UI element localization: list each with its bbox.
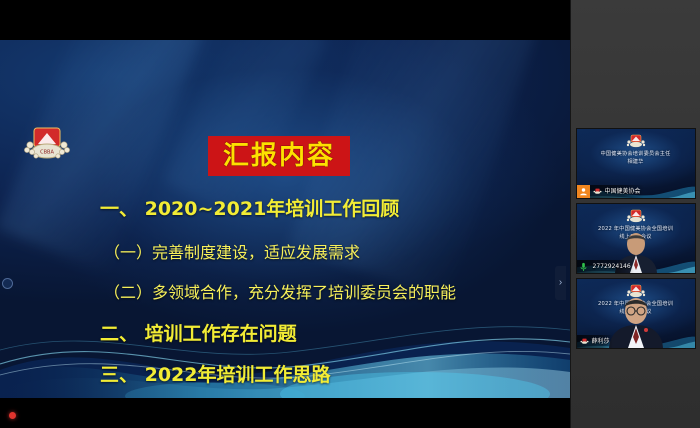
participant-video-person: [608, 292, 664, 348]
presentation-slide[interactable]: CBBA 汇报内容 一、 2020~2021年培训工作回顾 （一）完善制度建设，…: [0, 40, 570, 398]
participant-tile[interactable]: 2022 年中国健美协会全国培训 线上工作会议: [576, 278, 696, 349]
svg-text:CBBA: CBBA: [40, 150, 54, 156]
tile-caption-line1: 中国健美协会培训委员会主任: [580, 151, 692, 159]
participant-filmstrip[interactable]: 中国健美协会培训委员会主任 相建华 中国健美协会: [570, 0, 700, 428]
tile-participant-name: 薛利莎: [592, 339, 610, 345]
tile-caption: 中国健美协会培训委员会主任 相建华: [577, 151, 695, 166]
tile-name-bar: 2772924146: [577, 260, 634, 273]
slide-body: 一、 2020~2021年培训工作回顾 （一）完善制度建设，适应发展需求 （二）…: [0, 200, 570, 385]
cbba-mini-emblem-icon: [593, 188, 602, 195]
filmstrip-spacer: [571, 0, 700, 128]
cbba-emblem-icon: [625, 209, 647, 225]
slide-light-streak: [162, 40, 328, 220]
slide-line-1: 一、 2020~2021年培训工作回顾: [100, 200, 570, 219]
cbba-mini-emblem-icon: [580, 338, 589, 345]
microphone-icon: [577, 260, 590, 273]
tile-name-bar: 薛利莎: [577, 335, 613, 348]
tile-participant-name: 2772924146: [593, 264, 631, 270]
slide-line-2: （一）完善制度建设，适应发展需求: [104, 245, 570, 261]
meeting-screen-share-window: CBBA 汇报内容 一、 2020~2021年培训工作回顾 （一）完善制度建设，…: [0, 0, 700, 428]
slide-title-text: 汇报内容: [223, 143, 335, 169]
slide-line-5: 三、 2022年培训工作思路: [100, 366, 570, 385]
recording-indicator-icon: [9, 412, 16, 419]
cbba-emblem-icon: CBBA: [20, 124, 74, 164]
tile-name-bar: 中国健美协会: [577, 185, 644, 198]
slide-title-banner: 汇报内容: [208, 136, 350, 176]
slide-line-3: （二）多领域合作，充分发挥了培训委员会的职能: [104, 285, 570, 301]
participant-tile[interactable]: 中国健美协会培训委员会主任 相建华 中国健美协会: [576, 128, 696, 199]
shared-screen-stage[interactable]: CBBA 汇报内容 一、 2020~2021年培训工作回顾 （一）完善制度建设，…: [0, 0, 570, 428]
chevron-right-icon[interactable]: ›: [555, 266, 566, 300]
cbba-emblem-icon: [625, 134, 647, 150]
tile-caption-line2: 相建华: [580, 159, 692, 167]
tile-participant-name: 中国健美协会: [605, 189, 641, 195]
stage-left-circle-control[interactable]: [2, 278, 13, 289]
avatar-icon: [577, 185, 590, 198]
participant-tile[interactable]: 2022 年中国健美协会全国培训 线上工作会议 2772924146: [576, 203, 696, 274]
slide-line-4: 二、 培训工作存在问题: [100, 325, 570, 344]
